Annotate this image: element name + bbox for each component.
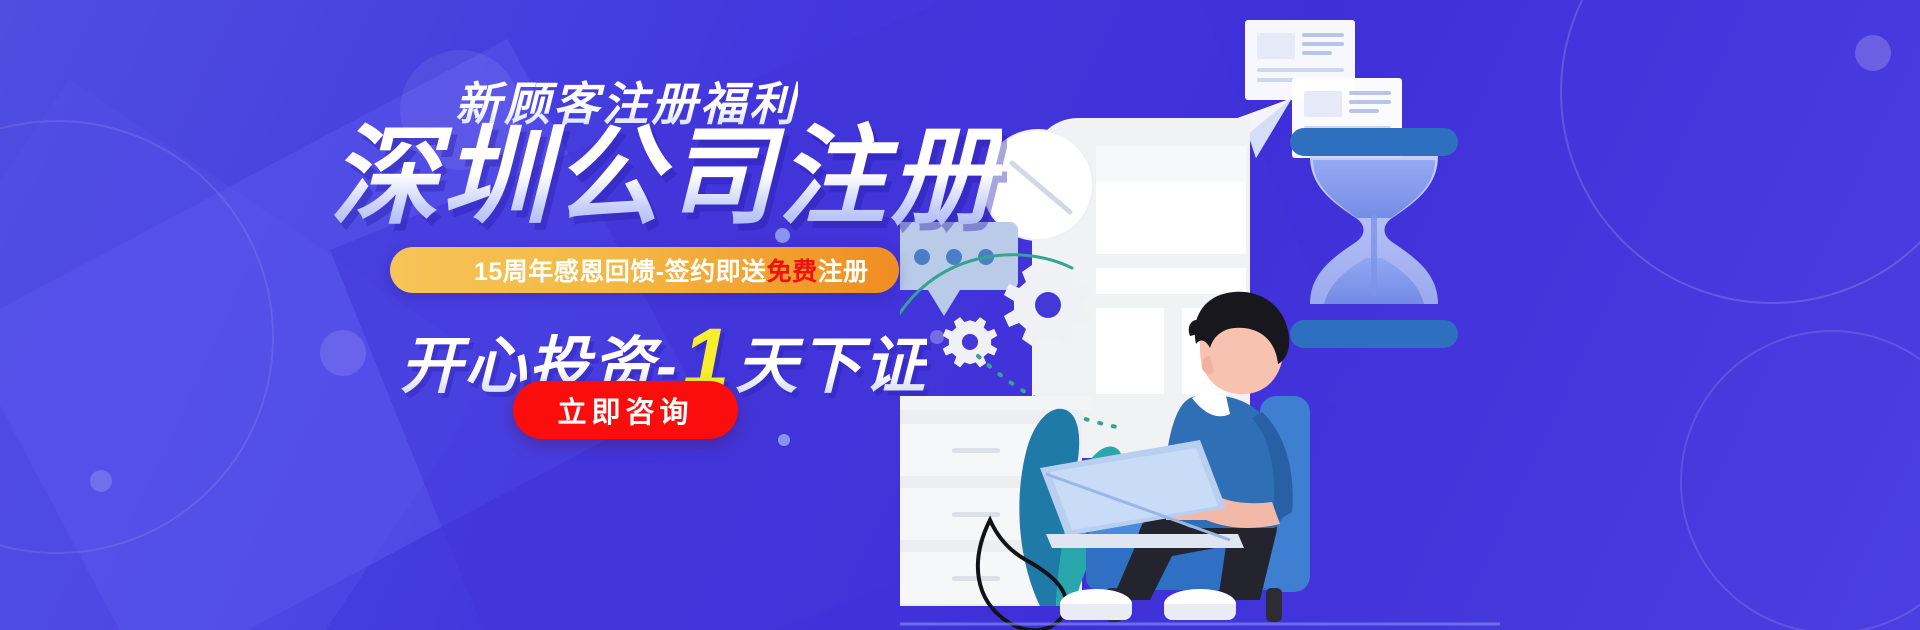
hourglass-icon: [1290, 128, 1458, 348]
subline-suffix: 天下证: [735, 332, 927, 401]
promo-suffix: 注册: [818, 252, 869, 288]
illustration: [900, 0, 1920, 630]
page-title: 深圳公司注册: [330, 120, 1002, 233]
consult-now-button[interactable]: 立即咨询: [513, 381, 738, 439]
promo-badge: 15周年感恩回馈-签约即送 免费 注册: [390, 247, 899, 293]
promo-banner: 新顾客注册福利 深圳公司注册 15周年感恩回馈-签约即送 免费 注册 开心投资-…: [0, 0, 1920, 630]
promo-highlight: 免费: [767, 252, 818, 288]
promo-prefix: 15周年感恩回馈-签约即送: [474, 252, 767, 288]
banner-copy: 新顾客注册福利 深圳公司注册 15周年感恩回馈-签约即送 免费 注册 开心投资-…: [0, 0, 980, 630]
